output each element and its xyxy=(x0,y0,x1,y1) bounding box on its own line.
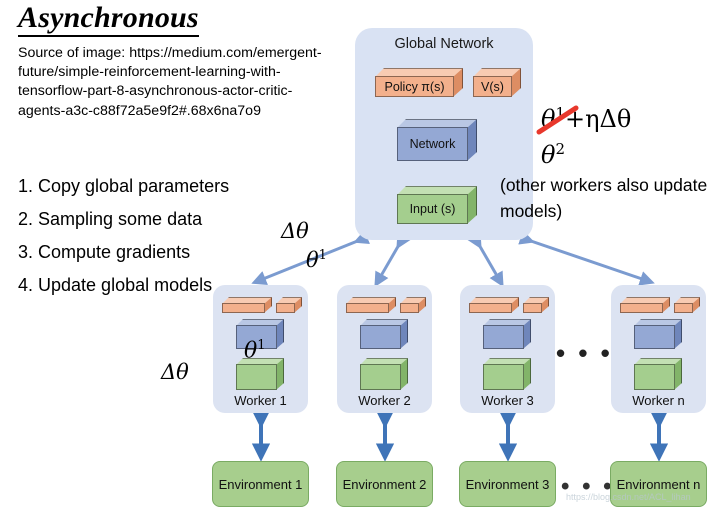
theta-superscript: 2 xyxy=(555,140,565,158)
worker-input-box xyxy=(360,358,408,390)
arrow-global-worker2 xyxy=(378,243,400,281)
worker-policy-box-face xyxy=(469,303,512,313)
network-box-label: Network xyxy=(397,127,468,161)
worker-policy-box-face xyxy=(620,303,663,313)
worker-policy-box xyxy=(346,297,396,313)
list-item: 3. Compute gradients xyxy=(18,236,233,269)
theta-symbol: θ xyxy=(244,338,257,363)
watermark: https://blog.csdn.net/ACL_lihan xyxy=(566,492,691,502)
steps-list: 1. Copy global parameters 2. Sampling so… xyxy=(18,170,233,302)
worker-value-box-face xyxy=(400,303,419,313)
theta-superscript: 1 xyxy=(257,338,265,353)
workers-ellipsis: • • • xyxy=(556,340,613,366)
policy-box: Policy π(s) xyxy=(375,68,463,97)
worker-value-box xyxy=(276,297,302,313)
worker-value-box xyxy=(674,297,700,313)
worker-policy-box-face xyxy=(346,303,389,313)
environment-box-1[interactable]: Environment 1 xyxy=(212,461,309,507)
worker-network-box-face xyxy=(483,325,524,349)
worker-network-box-face xyxy=(360,325,401,349)
list-item: 4. Update global models xyxy=(18,269,233,302)
worker-input-box xyxy=(483,358,531,390)
worker-network-box-face xyxy=(634,325,675,349)
worker-value-box-face xyxy=(674,303,693,313)
theta-symbol: θ xyxy=(306,248,319,272)
worker-network-box xyxy=(634,319,682,349)
worker-input-box-face xyxy=(483,364,524,390)
worker-panel-3[interactable]: Worker 3 xyxy=(460,285,555,413)
theta-superscript: 1 xyxy=(319,248,327,263)
worker-panel-2[interactable]: Worker 2 xyxy=(337,285,432,413)
theta-one-label-top: θ1 xyxy=(306,248,327,272)
worker-policy-box xyxy=(620,297,670,313)
environment-box-2[interactable]: Environment 2 xyxy=(336,461,433,507)
red-strikethrough-icon xyxy=(536,104,580,138)
worker-label: Worker 2 xyxy=(337,393,432,408)
arrow-global-workern xyxy=(528,240,648,281)
theta-two-label: θ2 xyxy=(541,140,565,169)
other-workers-note: (other workers also update models) xyxy=(500,172,720,224)
worker-policy-box xyxy=(469,297,519,313)
worker-input-box xyxy=(634,358,682,390)
worker-value-box-face xyxy=(276,303,295,313)
environment-box-3[interactable]: Environment 3 xyxy=(459,461,556,507)
list-item: 2. Sampling some data xyxy=(18,203,233,236)
policy-box-label: Policy π(s) xyxy=(375,76,454,97)
value-box-label: V(s) xyxy=(473,76,512,97)
theta-one-label-worker1: θ1 xyxy=(244,338,266,363)
worker-policy-box-face xyxy=(222,303,265,313)
worker-network-box xyxy=(483,319,531,349)
worker-value-box xyxy=(523,297,549,313)
worker-input-box-face xyxy=(236,364,277,390)
worker-label: Worker n xyxy=(611,393,706,408)
worker-panel-n[interactable]: Worker n xyxy=(611,285,706,413)
worker-value-box-face xyxy=(523,303,542,313)
arrow-global-worker3 xyxy=(478,243,500,281)
network-box: Network xyxy=(397,119,477,161)
delta-theta-label-top: Δθ xyxy=(281,219,309,243)
worker-value-box xyxy=(400,297,426,313)
input-box: Input (s) xyxy=(397,186,477,224)
global-network-label: Global Network xyxy=(355,36,533,52)
value-box: V(s) xyxy=(473,68,521,97)
worker-label: Worker 1 xyxy=(213,393,308,408)
page-title: Asynchronous xyxy=(18,2,199,37)
delta-theta-label-left: Δθ xyxy=(161,360,189,384)
worker-label: Worker 3 xyxy=(460,393,555,408)
worker-input-box-face xyxy=(634,364,675,390)
theta-symbol: θ xyxy=(541,141,555,169)
input-box-label: Input (s) xyxy=(397,194,468,224)
list-item: 1. Copy global parameters xyxy=(18,170,233,203)
worker-policy-box xyxy=(222,297,272,313)
worker-network-box xyxy=(360,319,408,349)
source-of-image-text: Source of image: https://medium.com/emer… xyxy=(18,44,338,121)
worker-input-box-face xyxy=(360,364,401,390)
